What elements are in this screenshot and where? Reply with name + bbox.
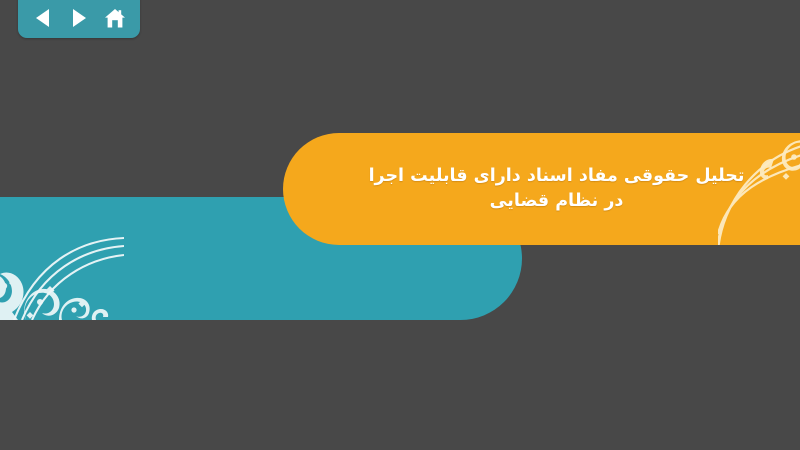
slide-canvas: تحلیل حقوقی مفاد اسناد دارای قابلیت اجرا…: [0, 0, 800, 450]
orange-banner: تحلیل حقوقی مفاد اسناد دارای قابلیت اجرا…: [283, 133, 800, 245]
navigation-toolbar: [18, 0, 140, 38]
triangle-left-icon: [34, 8, 52, 28]
slide-title: تحلیل حقوقی مفاد اسناد دارای قابلیت اجرا…: [322, 164, 792, 214]
page-title-line-1: تحلیل حقوقی مفاد اسناد دارای قابلیت اجرا: [322, 164, 792, 189]
next-slide-button[interactable]: [64, 4, 94, 32]
previous-slide-button[interactable]: [28, 4, 58, 32]
arabesque-corner-ornament: [0, 234, 124, 320]
home-button[interactable]: [100, 4, 130, 32]
triangle-right-icon: [70, 8, 88, 28]
page-title-line-2: در نظام قضایی: [322, 189, 792, 214]
home-icon: [104, 8, 126, 29]
